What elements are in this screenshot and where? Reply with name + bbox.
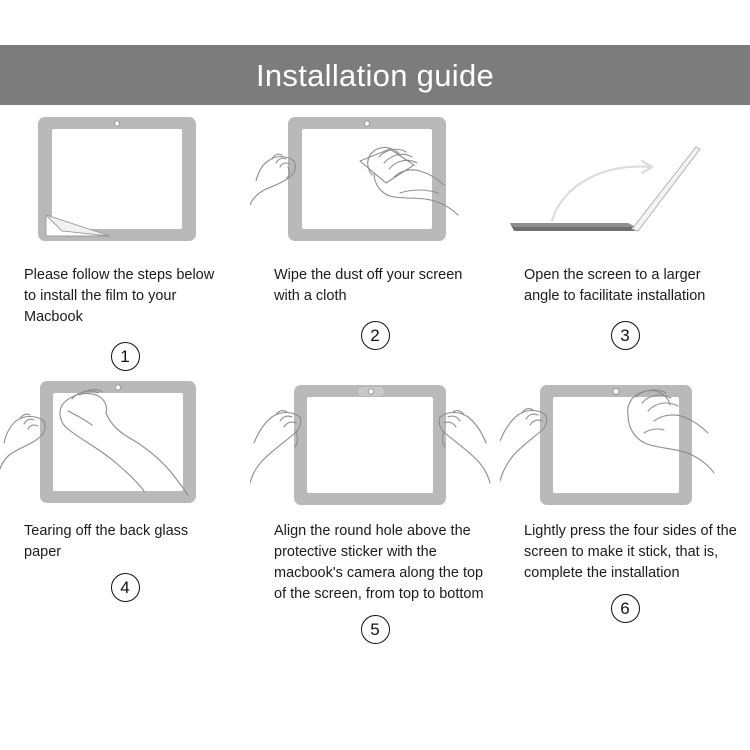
step-number-wrap-6: 6: [500, 594, 750, 623]
header-band: Installation guide: [0, 45, 750, 105]
step-number-badge-2: 2: [361, 321, 390, 350]
step-number-wrap-2: 2: [250, 321, 500, 350]
step-card-5: Align the round hole above the protectiv…: [250, 371, 500, 644]
step-caption-3: Open the screen to a larger angle to fac…: [524, 265, 729, 307]
figure-two-hands-aligning-film: [250, 371, 500, 521]
step-card-3: Open the screen to a larger angle to fac…: [500, 105, 750, 371]
figure-hands-tearing-back-paper: [0, 371, 250, 521]
step-number-badge-5: 5: [361, 615, 390, 644]
figure-hand-pressing-screen: [500, 371, 750, 521]
step-card-2: Wipe the dust off your screen with a clo…: [250, 105, 500, 371]
page-title: Installation guide: [256, 60, 494, 91]
step-number-wrap-3: 3: [500, 321, 750, 350]
step-number-wrap-1: 1: [0, 342, 250, 371]
step-caption-4: Tearing off the back glass paper: [24, 521, 229, 563]
step-number-badge-4: 4: [111, 573, 140, 602]
step-number-wrap-5: 5: [250, 615, 500, 644]
step-number-wrap-4: 4: [0, 573, 250, 602]
step-caption-5: Align the round hole above the protectiv…: [274, 521, 494, 605]
step-caption-6: Lightly press the four sides of the scre…: [524, 521, 744, 584]
step-number-badge-6: 6: [611, 594, 640, 623]
step-card-1: Please follow the steps below to install…: [0, 105, 250, 371]
step-number-badge-3: 3: [611, 321, 640, 350]
step-card-4: Tearing off the back glass paper 4: [0, 371, 250, 644]
step-card-6: Lightly press the four sides of the scre…: [500, 371, 750, 644]
steps-grid: Please follow the steps below to install…: [0, 105, 750, 644]
step-caption-1: Please follow the steps below to install…: [24, 265, 229, 328]
figure-laptop-side-view-opening-screen: [500, 105, 750, 265]
figure-hands-wiping-screen-with-cloth: [250, 105, 500, 265]
figure-tablet-with-peeling-film-corner: [0, 105, 250, 265]
step-number-badge-1: 1: [111, 342, 140, 371]
step-caption-2: Wipe the dust off your screen with a clo…: [274, 265, 479, 307]
